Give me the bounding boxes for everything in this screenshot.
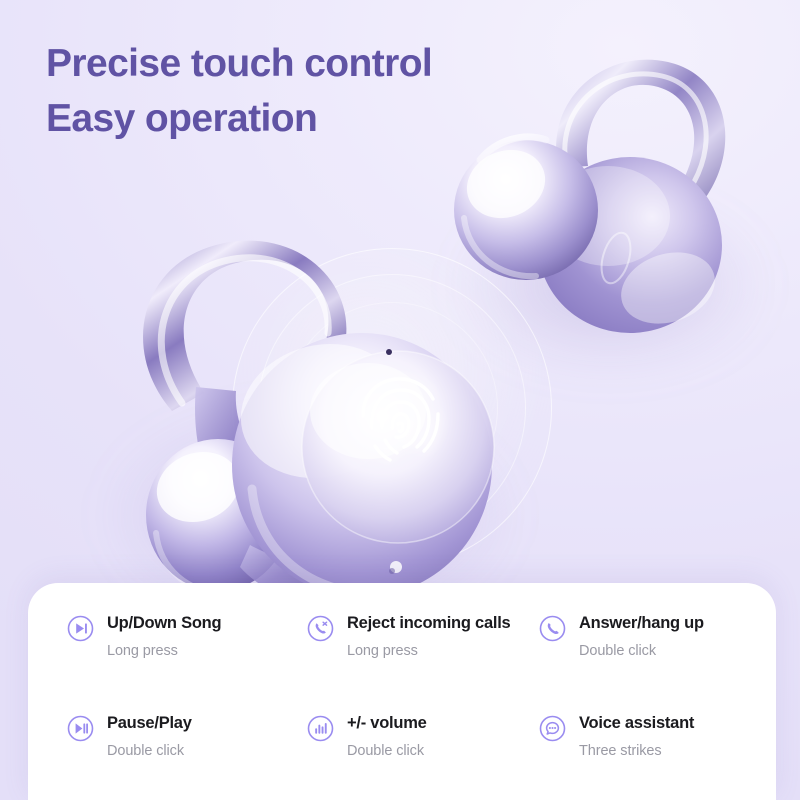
feature-title: Voice assistant (579, 714, 694, 732)
feature-title: Up/Down Song (107, 614, 221, 632)
volume-equalizer-icon (307, 715, 334, 742)
feature-answer-hangup[interactable]: Answer/hang up Double click (539, 613, 776, 713)
feature-text: Pause/Play Double click (107, 713, 192, 760)
headline-line-2: Easy operation (46, 91, 432, 146)
feature-grid: Up/Down Song Long press Reject incoming … (28, 583, 776, 800)
feature-title: +/- volume (347, 714, 427, 732)
feature-title: Answer/hang up (579, 614, 704, 632)
feature-volume[interactable]: +/- volume Double click (307, 713, 539, 800)
feature-text: Reject incoming calls Long press (347, 613, 510, 660)
headline-line-1: Precise touch control (46, 36, 432, 91)
feature-list-card: Up/Down Song Long press Reject incoming … (28, 583, 776, 800)
voice-assistant-icon (539, 715, 566, 742)
feature-title: Reject incoming calls (347, 614, 510, 632)
phone-answer-icon (539, 615, 566, 642)
feature-text: Up/Down Song Long press (107, 613, 221, 660)
feature-gesture: Double click (579, 643, 704, 660)
feature-text: +/- volume Double click (347, 713, 427, 760)
microphone-pinhole-icon (386, 349, 392, 355)
feature-pause-play[interactable]: Pause/Play Double click (67, 713, 307, 800)
phone-reject-icon (307, 615, 334, 642)
feature-gesture: Double click (347, 743, 427, 760)
headline-block: Precise touch control Easy operation (46, 36, 432, 147)
feature-gesture: Long press (107, 643, 221, 660)
feature-text: Answer/hang up Double click (579, 613, 704, 660)
feature-voice-assistant[interactable]: Voice assistant Three strikes (539, 713, 776, 800)
play-pause-icon (67, 715, 94, 742)
feature-title: Pause/Play (107, 714, 192, 732)
feature-gesture: Double click (107, 743, 192, 760)
earbud-lower-left (100, 215, 540, 615)
fingerprint-icon (357, 372, 443, 470)
promo-image-canvas: Precise touch control Easy operation (0, 0, 800, 800)
feature-reject-calls[interactable]: Reject incoming calls Long press (307, 613, 539, 713)
next-track-icon (67, 615, 94, 642)
feature-gesture: Long press (347, 643, 510, 660)
feature-up-down-song[interactable]: Up/Down Song Long press (67, 613, 307, 713)
feature-text: Voice assistant Three strikes (579, 713, 694, 760)
feature-gesture: Three strikes (579, 743, 694, 760)
